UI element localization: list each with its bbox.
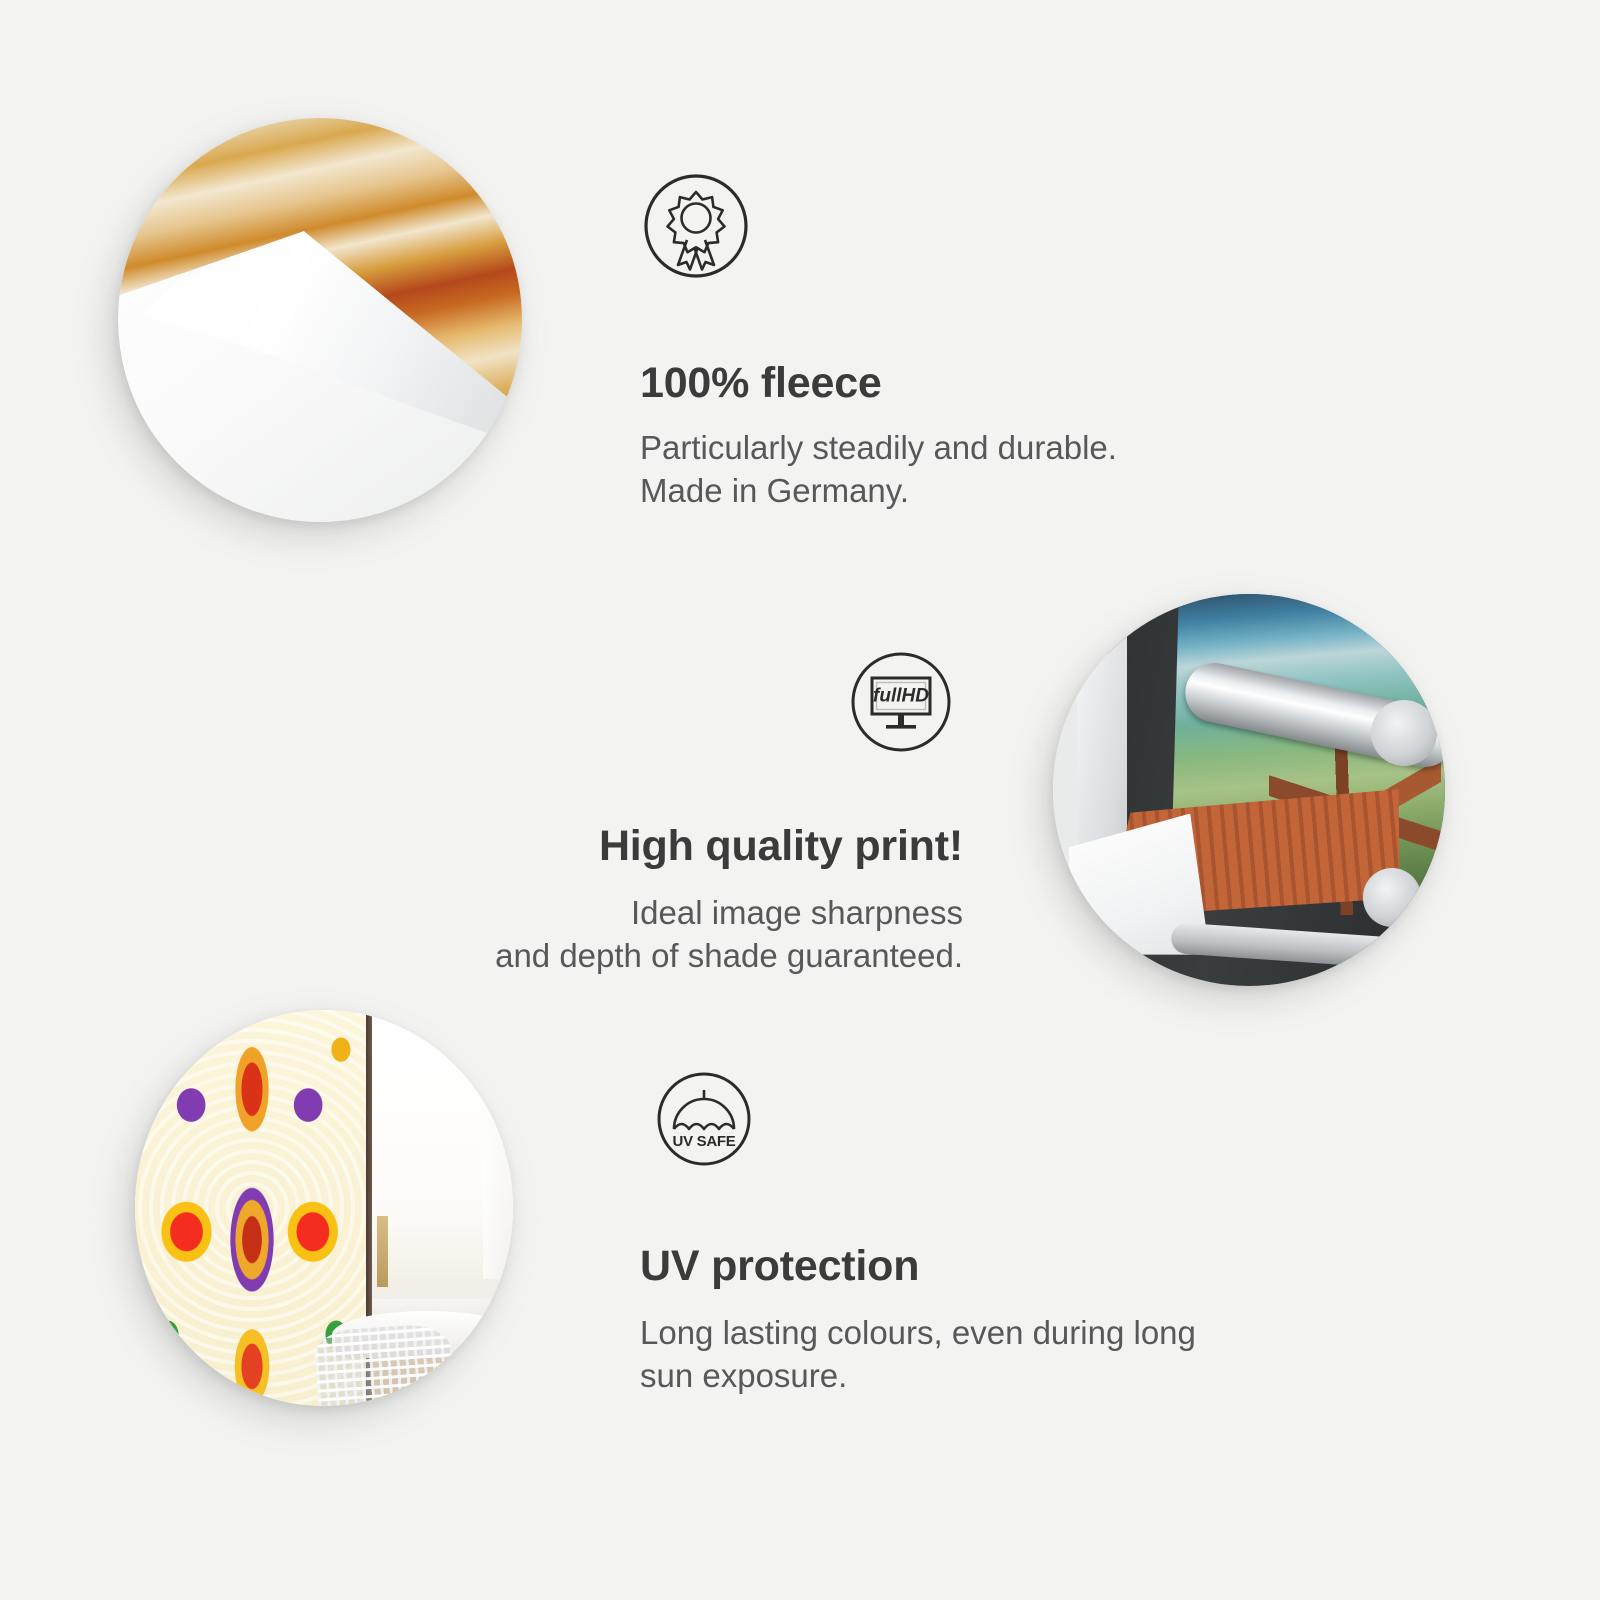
fullhd-monitor-icon: fullHD xyxy=(847,648,955,756)
feature-title: High quality print! xyxy=(263,823,963,870)
photo-content xyxy=(135,1010,513,1406)
large-format-printer-photo xyxy=(1053,594,1445,986)
white-wire-chair xyxy=(314,1322,455,1406)
photo-content xyxy=(118,118,522,522)
uv-safe-umbrella-icon: UV SAFE xyxy=(653,1068,755,1170)
award-ribbon-icon xyxy=(640,170,1340,282)
feature-block-fleece: 100% fleece Particularly steadily and du… xyxy=(640,170,1340,512)
photo-content xyxy=(1053,594,1445,986)
feature-description: Particularly steadily and durable. Made … xyxy=(640,427,1340,511)
feature-title: 100% fleece xyxy=(640,360,1340,407)
mandala-wallpaper-interior-photo xyxy=(135,1010,513,1406)
description-line: Long lasting colours, even during long xyxy=(640,1312,1340,1354)
infographic-stage: 100% fleece Particularly steadily and du… xyxy=(0,0,1600,1600)
feature-description: Long lasting colours, even during long s… xyxy=(640,1312,1340,1396)
feature-title: UV protection xyxy=(640,1243,1340,1290)
uv-safe-label: UV SAFE xyxy=(673,1133,736,1150)
description-line: sun exposure. xyxy=(640,1355,1340,1397)
feature-description: Ideal image sharpness and depth of shade… xyxy=(263,892,963,976)
description-line: Made in Germany. xyxy=(640,470,1340,512)
candlestick xyxy=(377,1216,388,1287)
feature-block-print: fullHD High quality print! Ideal image s… xyxy=(263,648,963,977)
printer-roller-disc xyxy=(1371,700,1438,767)
description-line: and depth of shade guaranteed. xyxy=(263,935,963,977)
description-line: Ideal image sharpness xyxy=(263,892,963,934)
feature-block-uv: UV SAFE UV protection Long lasting colou… xyxy=(640,1068,1340,1397)
description-line: Particularly steadily and durable. xyxy=(640,427,1340,469)
peeling-fleece-wallpaper-photo xyxy=(118,118,522,522)
fullhd-label: fullHD xyxy=(873,686,929,707)
